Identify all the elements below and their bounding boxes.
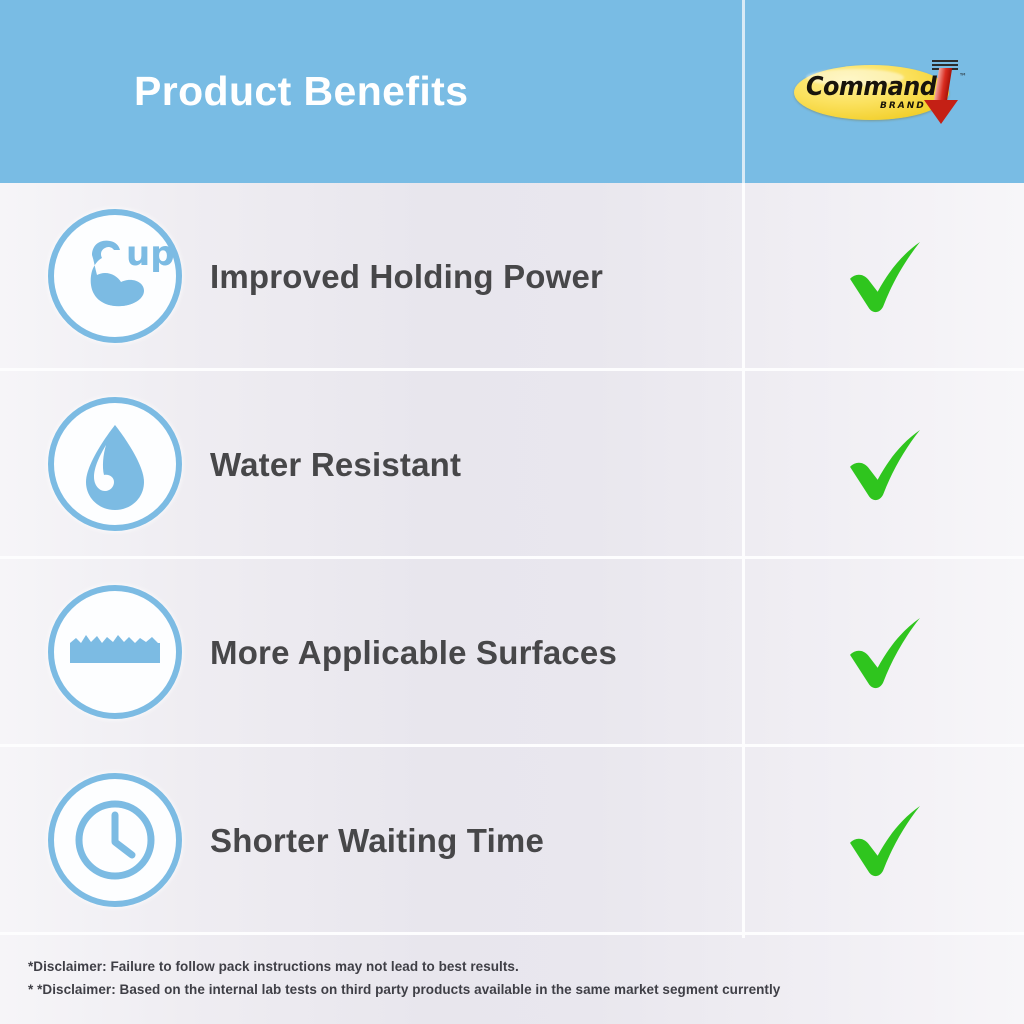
command-brand-logo: Command BRAND ™	[790, 56, 972, 128]
benefit-label: Shorter Waiting Time	[210, 747, 544, 935]
logo-red-arrow-icon: ™	[918, 56, 972, 128]
table-row: More Applicable Surfaces	[0, 559, 1024, 747]
logo-stripe	[932, 60, 958, 62]
table-row: up Improved Holding Power	[0, 183, 1024, 371]
row-divider	[0, 932, 1024, 935]
muscle-arm-up-icon: up	[48, 209, 182, 343]
clock-icon	[48, 773, 182, 907]
logo-stripe	[932, 64, 958, 66]
water-drop-glyph	[48, 397, 182, 531]
rough-surface-glyph	[48, 585, 182, 719]
logo-wordmark: Command	[806, 74, 935, 100]
green-check-icon	[839, 607, 931, 699]
green-check-icon	[839, 419, 931, 511]
disclaimer-line-2: * *Disclaimer: Based on the internal lab…	[28, 982, 780, 997]
clock-glyph	[48, 773, 182, 907]
svg-text:up: up	[126, 234, 175, 274]
product-benefits-infographic: Product Benefits Command BRAND ™	[0, 0, 1024, 1024]
footer-disclaimers: *Disclaimer: Failure to follow pack inst…	[0, 941, 1024, 1024]
green-check-icon	[839, 231, 931, 323]
green-check-icon	[839, 795, 931, 887]
rough-surface-icon	[48, 585, 182, 719]
benefit-label: Improved Holding Power	[210, 183, 603, 371]
trademark-symbol: ™	[959, 72, 967, 81]
page-title: Product Benefits	[134, 0, 468, 183]
table-row: Water Resistant	[0, 371, 1024, 559]
benefit-value-cell	[745, 371, 1024, 559]
water-drop-icon	[48, 397, 182, 531]
benefit-value-cell	[745, 747, 1024, 935]
benefit-label: Water Resistant	[210, 371, 461, 559]
benefit-label: More Applicable Surfaces	[210, 559, 617, 747]
benefit-value-cell	[745, 559, 1024, 747]
disclaimer-line-1: *Disclaimer: Failure to follow pack inst…	[28, 959, 519, 974]
benefits-table: up Improved Holding Power Water Resistan…	[0, 183, 1024, 938]
header-column-divider	[742, 0, 745, 183]
muscle-arm-glyph: up	[48, 209, 182, 343]
table-row: Shorter Waiting Time	[0, 747, 1024, 935]
logo-arrow-head	[924, 100, 958, 124]
benefit-value-cell	[745, 183, 1024, 371]
